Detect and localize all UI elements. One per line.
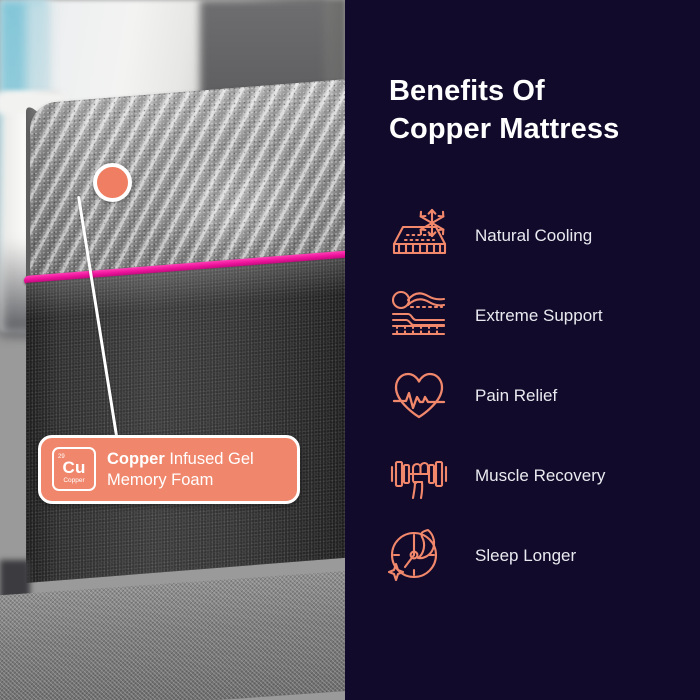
benefit-label: Extreme Support: [475, 306, 603, 326]
hand-dumbbell-icon: [383, 448, 455, 504]
page-title-line1: Benefits Of: [389, 72, 689, 110]
mattress-snowflake-icon: [383, 208, 455, 264]
benefit-item-pain-relief: Pain Relief: [383, 356, 693, 436]
benefit-label: Sleep Longer: [475, 546, 576, 566]
benefit-item-extreme-support: Extreme Support: [383, 276, 693, 356]
mattress-photo: 29 Cu Copper Copper Infused Gel Memory F…: [0, 0, 345, 700]
copper-callout-badge[interactable]: 29 Cu Copper Copper Infused Gel Memory F…: [38, 435, 300, 504]
benefit-item-natural-cooling: Natural Cooling: [383, 196, 693, 276]
foundation-texture: [0, 570, 345, 700]
copper-element-tile: 29 Cu Copper: [52, 447, 96, 491]
person-on-mattress-icon: [383, 288, 455, 344]
pointer-dot[interactable]: [93, 163, 132, 202]
benefit-label: Muscle Recovery: [475, 466, 605, 486]
callout-text-bold: Copper: [107, 450, 165, 468]
benefits-list: Natural Cooling: [383, 196, 693, 596]
page-title: Benefits Of Copper Mattress: [389, 72, 689, 149]
benefit-label: Natural Cooling: [475, 226, 592, 246]
page-title-line2: Copper Mattress: [389, 110, 689, 148]
element-name: Copper: [63, 478, 84, 485]
benefit-item-muscle-recovery: Muscle Recovery: [383, 436, 693, 516]
element-symbol: Cu: [62, 459, 85, 476]
heart-heartbeat-icon: [383, 368, 455, 424]
benefits-panel: Benefits Of Copper Mattress: [345, 0, 700, 700]
clock-moon-icon: [383, 527, 455, 585]
mattress-base: [26, 257, 345, 583]
benefit-label: Pain Relief: [475, 386, 557, 406]
bed-foundation: [0, 570, 345, 700]
callout-text: Copper Infused Gel Memory Foam: [107, 447, 285, 491]
benefit-item-sleep-longer: Sleep Longer: [383, 516, 693, 596]
infographic-root: 29 Cu Copper Copper Infused Gel Memory F…: [0, 0, 700, 700]
